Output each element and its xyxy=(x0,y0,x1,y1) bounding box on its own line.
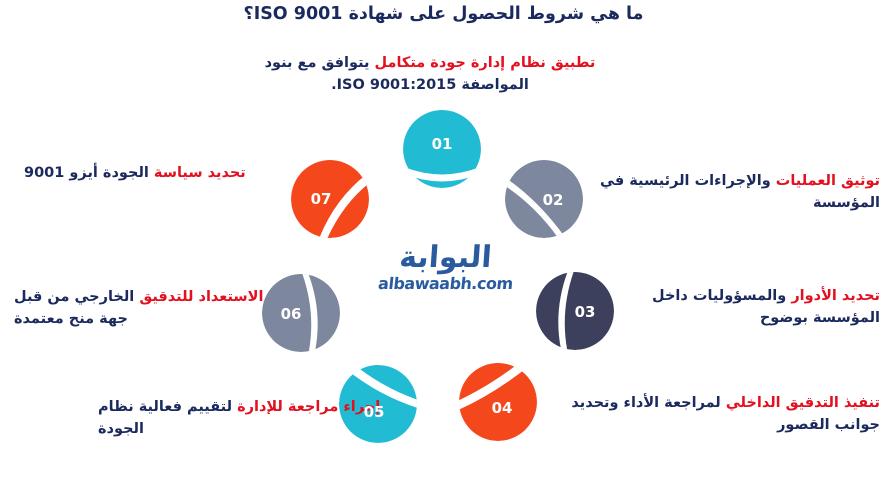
step-number-01: 01 xyxy=(403,135,481,153)
step-number-02: 02 xyxy=(514,191,592,209)
step-circle-03[interactable]: 03 xyxy=(536,272,614,350)
step-label-04-highlight: تنفيذ التدقيق الداخلي xyxy=(726,395,880,411)
step-circle-07[interactable]: 07 xyxy=(291,160,369,238)
step-label-03: تحديد الأدوار والمسؤوليات داخل المؤسسة ب… xyxy=(600,285,880,330)
step-circle-04[interactable]: 04 xyxy=(459,363,537,441)
step-label-06-highlight: الاستعداد للتدقيق xyxy=(139,289,263,305)
step-number-04: 04 xyxy=(463,399,541,417)
step-number-07: 07 xyxy=(282,190,360,208)
step-number-03: 03 xyxy=(546,303,624,321)
step-label-06: الاستعداد للتدقيق الخارجي من قبل جهة منح… xyxy=(14,286,264,331)
step-label-02: توثيق العمليات والإجراءات الرئيسية في ال… xyxy=(600,170,880,215)
step-circle-06[interactable]: 06 xyxy=(262,274,340,352)
step-circle-02[interactable]: 02 xyxy=(505,160,583,238)
brand-logo-arabic: البوابة xyxy=(372,243,519,273)
step-label-03-highlight: تحديد الأدوار xyxy=(791,288,880,304)
step-label-04: تنفيذ التدقيق الداخلي لمراجعة الأداء وتح… xyxy=(548,392,880,437)
step-label-01: تطبيق نظام إدارة جودة متكامل يتوافق مع ب… xyxy=(240,52,620,97)
page-title: ما هي شروط الحصول على شهادة ISO 9001؟ xyxy=(0,4,887,24)
brand-logo-latin: albawaabh.com xyxy=(372,274,519,293)
step-label-01-highlight: تطبيق نظام إدارة جودة متكامل xyxy=(375,55,596,71)
step-number-05: 05 xyxy=(335,403,413,421)
step-label-07: تحديد سياسة الجودة أيزو 9001 xyxy=(24,162,272,184)
step-label-05-rest: لتقييم فعالية نظام الجودة xyxy=(98,399,237,437)
brand-logo[interactable]: البوابة albawaabh.com xyxy=(373,243,518,305)
step-label-02-highlight: توثيق العمليات xyxy=(776,173,880,189)
step-label-07-highlight: تحديد سياسة xyxy=(154,165,246,181)
infographic-root: ما هي شروط الحصول على شهادة ISO 9001؟ 01… xyxy=(0,0,887,480)
step-label-07-rest: الجودة أيزو 9001 xyxy=(24,165,154,181)
step-label-06-rest: الخارجي من قبل جهة منح معتمدة xyxy=(14,289,139,327)
step-circle-01[interactable]: 01 xyxy=(403,110,481,188)
step-number-06: 06 xyxy=(252,305,330,323)
